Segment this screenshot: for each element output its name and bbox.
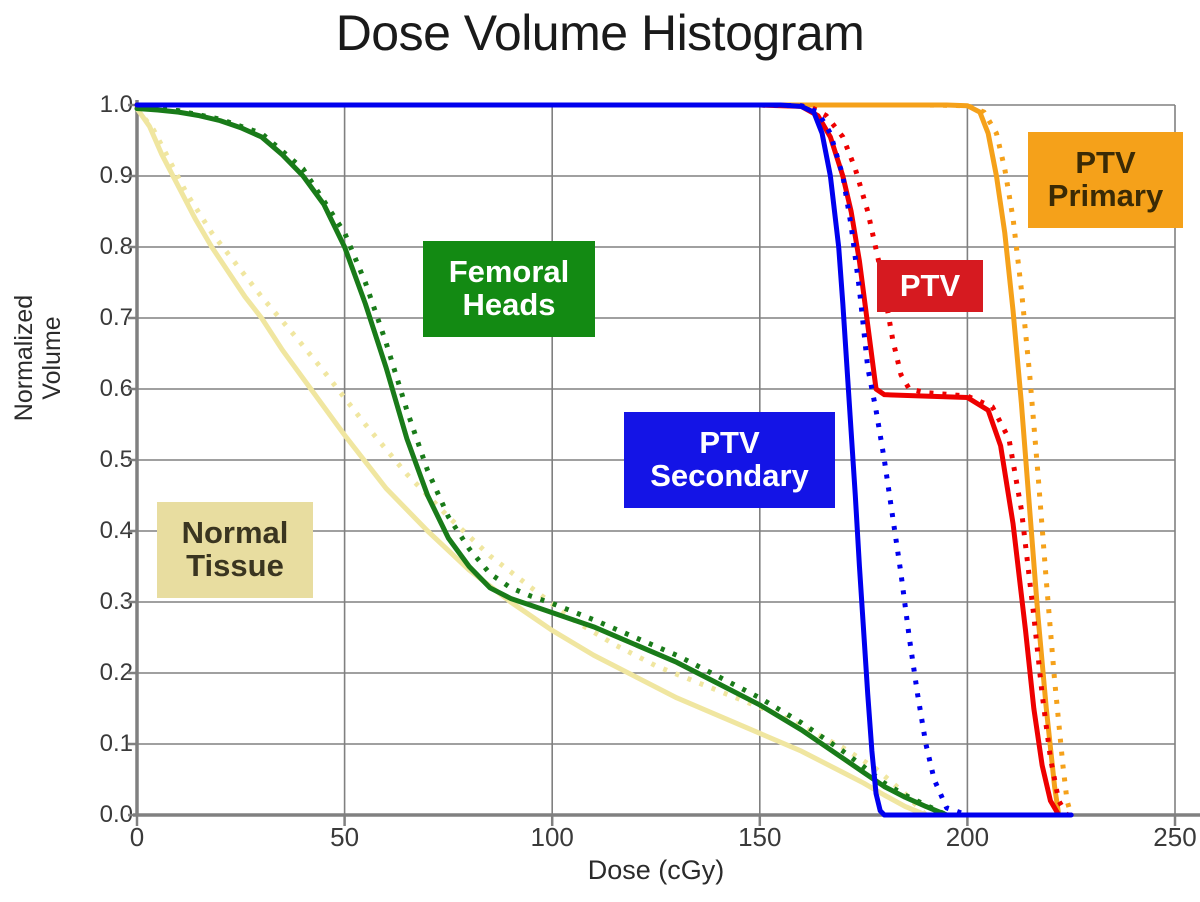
plot-area — [0, 0, 1200, 902]
series-callout-line: Heads — [462, 289, 555, 322]
series-callout-line: PTV — [699, 427, 759, 460]
series-callout-line: PTV — [1075, 147, 1135, 180]
dose-volume-histogram-chart: Dose Volume Histogram Normalized Volume … — [0, 0, 1200, 902]
series-callout-ptv: PTV — [877, 260, 983, 312]
series-callout-femoral-heads: FemoralHeads — [423, 241, 595, 337]
series-callout-line: Tissue — [186, 550, 284, 583]
series-callout-line: Normal — [182, 517, 289, 550]
series-callout-line: PTV — [900, 270, 960, 303]
series-callout-line: Primary — [1048, 180, 1163, 213]
series-callout-normal-tissue: NormalTissue — [157, 502, 313, 598]
series-callout-line: Femoral — [449, 256, 570, 289]
series-callout-ptv-secondary: PTVSecondary — [624, 412, 835, 508]
series-callout-line: Secondary — [650, 460, 809, 493]
series-callout-ptv-primary: PTVPrimary — [1028, 132, 1183, 228]
